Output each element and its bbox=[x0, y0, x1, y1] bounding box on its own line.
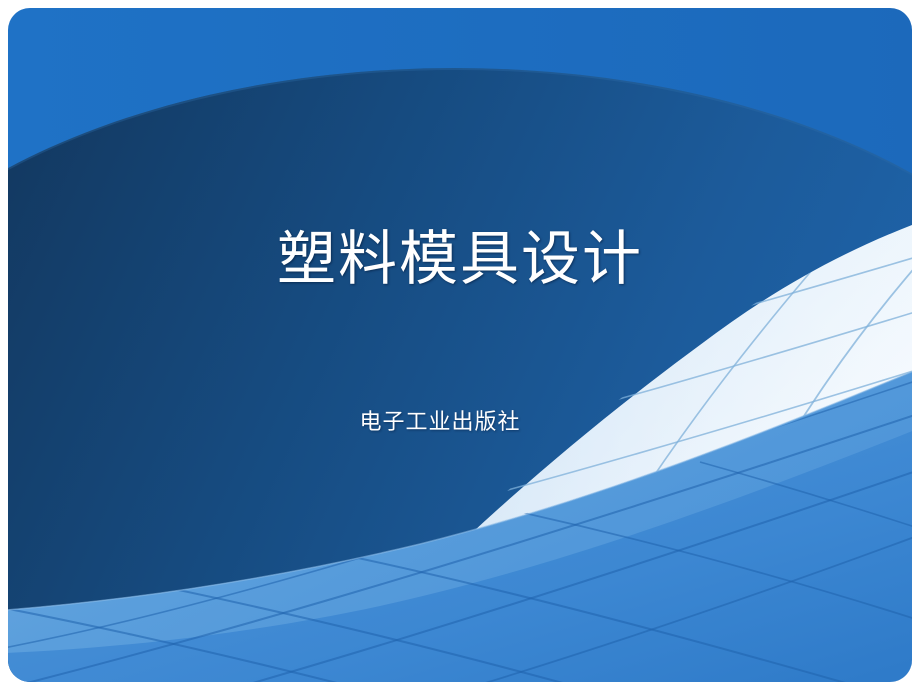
slide-artwork-group bbox=[0, 0, 920, 690]
presentation-slide: 塑料模具设计 电子工业出版社 bbox=[0, 0, 920, 690]
slide-background-artwork bbox=[0, 0, 920, 690]
